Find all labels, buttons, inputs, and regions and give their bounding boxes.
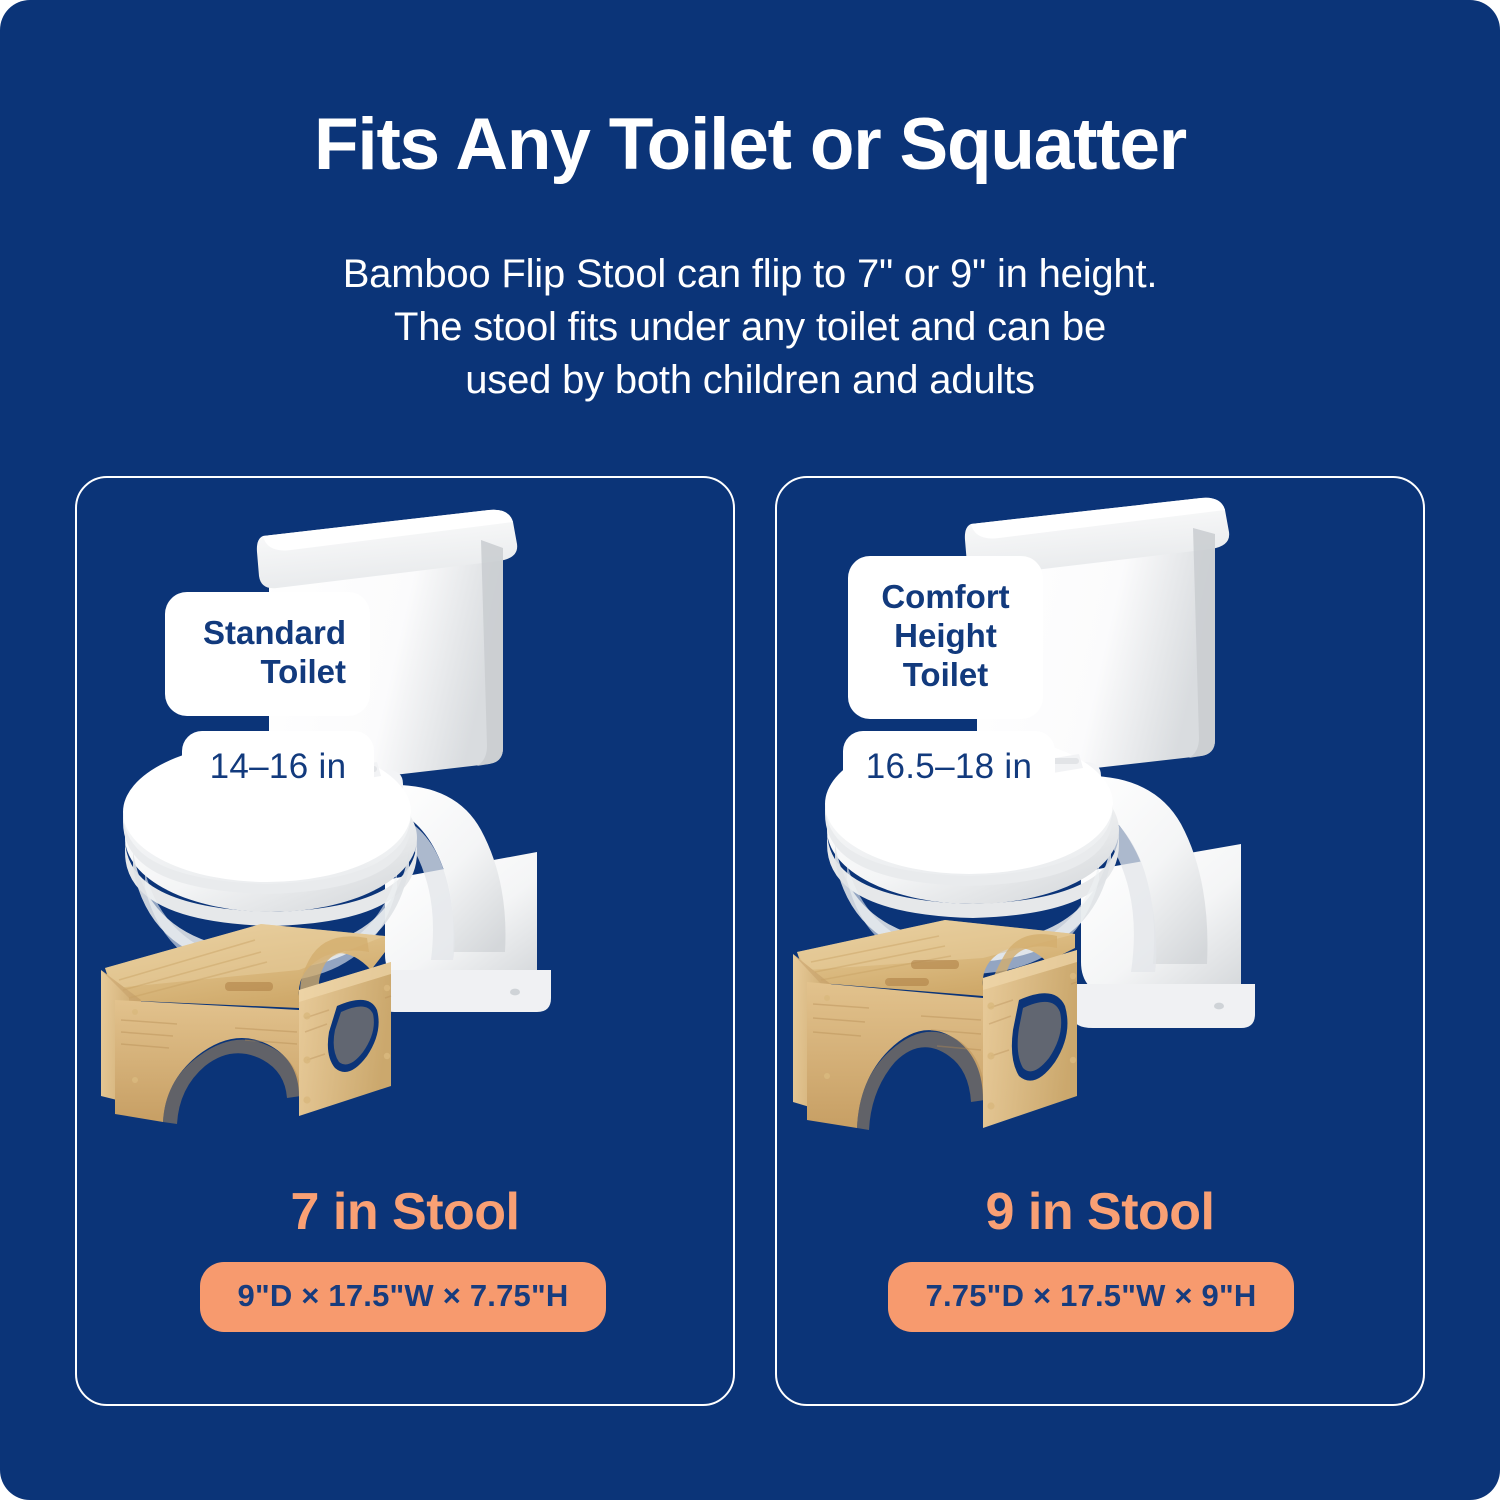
bamboo-stool-9in <box>793 920 1077 1130</box>
subtitle-line-3: used by both children and adults <box>190 354 1310 407</box>
page-title: Fits Any Toilet or Squatter <box>0 108 1500 181</box>
stool-title-9in: 9 in Stool <box>775 1182 1425 1242</box>
subtitle-line-1: Bamboo Flip Stool can flip to 7" or 9" i… <box>190 248 1310 301</box>
callout-line-1: Standard <box>189 614 346 653</box>
bamboo-stool-7in <box>101 924 391 1124</box>
page-subtitle: Bamboo Flip Stool can flip to 7" or 9" i… <box>190 248 1310 408</box>
dimensions-badge-7in: 9"D × 17.5"W × 7.75"H <box>200 1262 606 1332</box>
dimensions-badge-9in: 7.75"D × 17.5"W × 9"H <box>888 1262 1294 1332</box>
callout-line-2: Toilet <box>189 653 346 692</box>
callout-line-2: Height <box>872 617 1019 656</box>
callout-line-3: Toilet <box>872 656 1019 695</box>
callout-comfort-height-toilet: Comfort Height Toilet <box>848 556 1043 719</box>
callout-standard-toilet-height: 14–16 in <box>182 731 374 804</box>
stool-title-7in: 7 in Stool <box>75 1182 735 1242</box>
callout-comfort-height-toilet-height: 16.5–18 in <box>843 731 1055 804</box>
callout-standard-toilet: Standard Toilet <box>165 592 370 716</box>
infographic-canvas: Fits Any Toilet or Squatter Bamboo Flip … <box>0 0 1500 1500</box>
subtitle-line-2: The stool fits under any toilet and can … <box>190 301 1310 354</box>
callout-line-1: Comfort <box>872 578 1019 617</box>
